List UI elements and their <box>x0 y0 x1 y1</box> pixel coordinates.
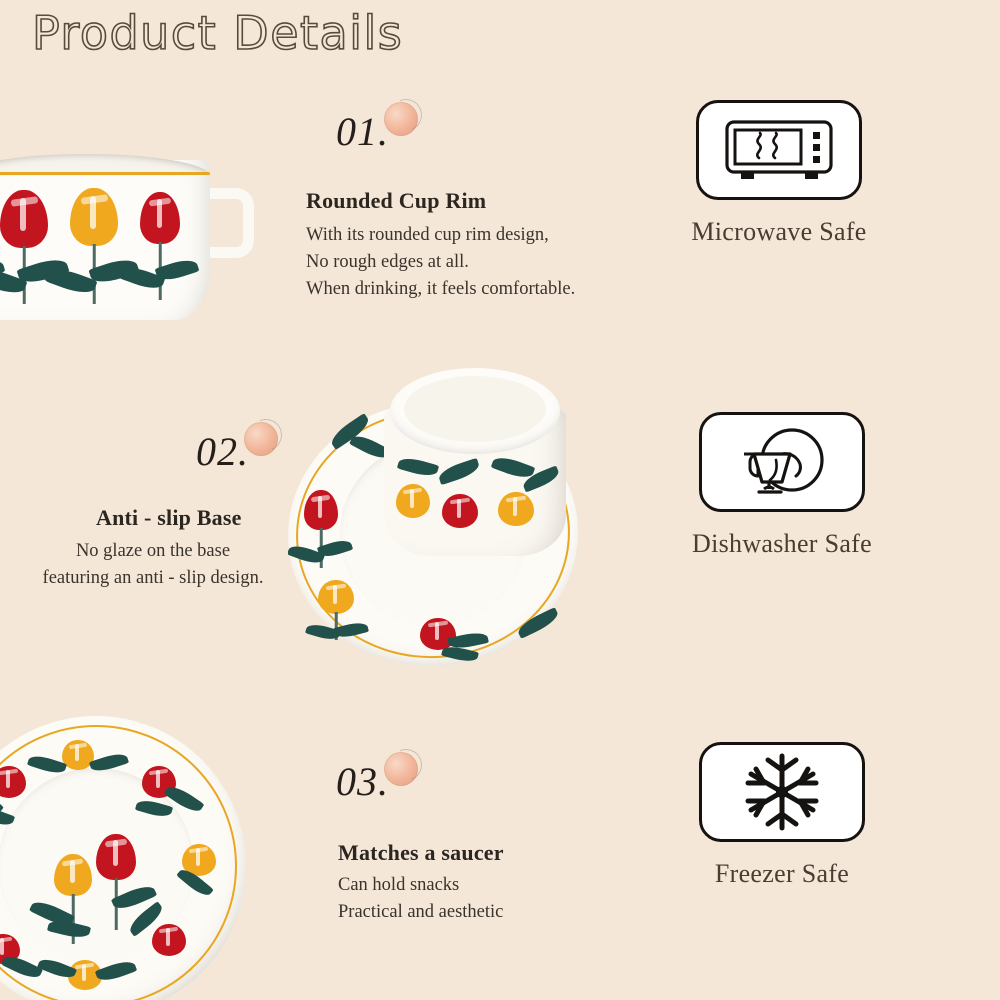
tulip-motif <box>152 924 186 976</box>
tulip-motif <box>498 492 534 546</box>
tulip-motif <box>420 618 456 676</box>
section-body-line: With its rounded cup rim design, <box>306 222 575 249</box>
brush-dot-icon <box>244 422 278 456</box>
section-body-line: No rough edges at all. <box>306 249 575 276</box>
tulip-motif <box>396 484 430 538</box>
section-body-01: With its rounded cup rim design, No roug… <box>306 222 575 303</box>
section-body-03: Can hold snacks Practical and aesthetic <box>338 872 503 926</box>
feature-freezer: Freezer Safe <box>667 742 897 889</box>
inverted-cup <box>380 368 570 568</box>
section-body-line: featuring an anti - slip design. <box>20 565 286 592</box>
feature-label: Dishwasher Safe <box>667 529 897 559</box>
feature-label: Freezer Safe <box>667 859 897 889</box>
tulip-motif <box>70 188 118 306</box>
tulip-cup-photo <box>0 148 282 346</box>
tulip-motif <box>68 960 102 1000</box>
feature-label: Microwave Safe <box>664 217 894 247</box>
page-title: Product Details <box>32 6 403 60</box>
brush-dot-icon <box>384 752 418 786</box>
inverted-cup-on-saucer-photo <box>288 368 578 698</box>
section-number-01: 01. <box>336 102 466 168</box>
section-headline-01: Rounded Cup Rim <box>306 188 486 214</box>
section-body-02: No glaze on the base featuring an anti -… <box>20 538 286 592</box>
product-details-page: Product Details <box>0 0 1000 1000</box>
freezer-icon-card <box>699 742 865 842</box>
tulip-motif <box>0 766 26 818</box>
tulip-motif <box>182 844 216 896</box>
tulip-motif <box>304 490 338 574</box>
tulip-motif <box>442 494 478 548</box>
tulip-motif-center <box>54 854 92 950</box>
microwave-icon-card <box>696 100 862 200</box>
tulip-motif <box>142 766 176 818</box>
section-body-line: Practical and aesthetic <box>338 899 503 926</box>
snowflake-icon <box>737 750 827 834</box>
dishware-plate-cup-icon <box>726 424 838 500</box>
microwave-icon <box>719 114 839 186</box>
tulip-motif <box>318 580 354 650</box>
section-number-label: 01. <box>336 112 389 152</box>
tulip-plate-photo <box>0 716 246 1000</box>
section-body-line: When drinking, it feels comfortable. <box>306 276 575 303</box>
section-number-02: 02. <box>196 422 326 488</box>
feature-microwave: Microwave Safe <box>664 100 894 247</box>
brush-dot-icon <box>384 102 418 136</box>
section-number-label: 02. <box>196 432 249 472</box>
tulip-motif-center <box>96 834 136 934</box>
cup-base-inner <box>404 376 546 442</box>
section-headline-02: Anti - slip Base <box>96 505 242 531</box>
section-number-03: 03. <box>336 752 466 818</box>
tulip-motif <box>62 740 94 792</box>
section-headline-03: Matches a saucer <box>338 840 504 866</box>
tulip-motif <box>0 934 20 986</box>
dishwasher-icon-card <box>699 412 865 512</box>
section-body-line: Can hold snacks <box>338 872 503 899</box>
cup-gold-rim-line <box>0 172 210 175</box>
feature-dishwasher: Dishwasher Safe <box>667 412 897 559</box>
tulip-motif <box>0 190 48 306</box>
section-body-line: No glaze on the base <box>20 538 286 565</box>
tulip-motif <box>140 192 180 304</box>
section-number-label: 03. <box>336 762 389 802</box>
